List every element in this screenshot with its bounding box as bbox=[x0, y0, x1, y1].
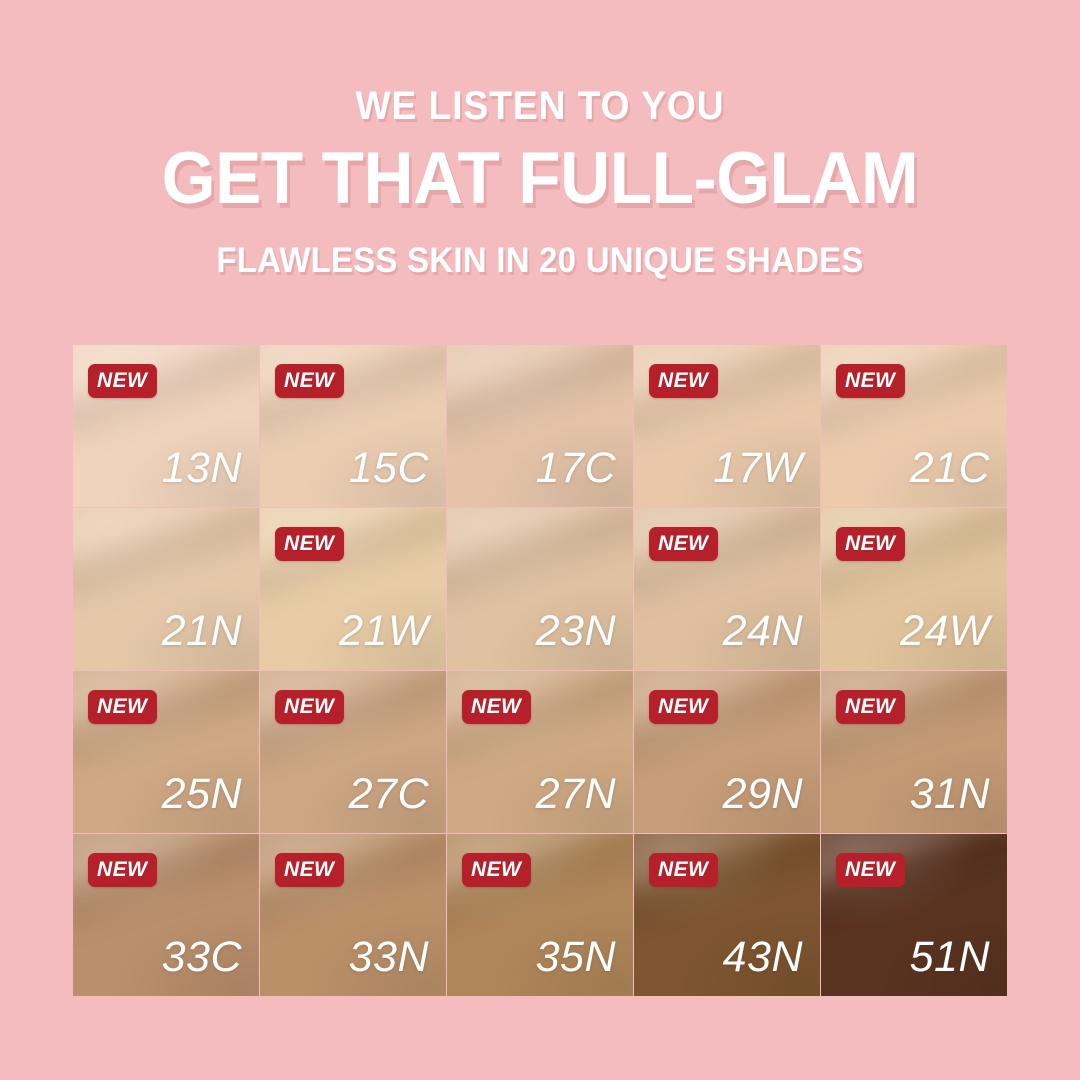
new-badge: NEW bbox=[836, 364, 905, 398]
shade-code-label: 35N bbox=[536, 936, 616, 979]
shade-code-label: 43N bbox=[723, 936, 803, 979]
new-badge: NEW bbox=[836, 527, 905, 561]
new-badge: NEW bbox=[88, 853, 157, 887]
new-badge: NEW bbox=[462, 853, 531, 887]
shade-code-label: 21W bbox=[339, 610, 429, 653]
new-badge: NEW bbox=[275, 853, 344, 887]
shade-swatch[interactable]: NEW29N bbox=[634, 671, 820, 833]
new-badge: NEW bbox=[649, 690, 718, 724]
shade-range-poster: WE LISTEN TO YOU GET THAT FULL-GLAM FLAW… bbox=[0, 0, 1080, 1080]
shade-swatch-grid: NEW13NNEW15CNEW17CNEW17WNEW21CNEW21NNEW2… bbox=[73, 345, 1007, 996]
shade-swatch[interactable]: NEW43N bbox=[634, 834, 820, 996]
new-badge: NEW bbox=[275, 364, 344, 398]
shade-code-label: 27C bbox=[349, 773, 429, 816]
shade-code-label: 24N bbox=[723, 610, 803, 653]
shade-swatch[interactable]: NEW25N bbox=[73, 671, 259, 833]
shade-code-label: 21N bbox=[162, 610, 242, 653]
header: WE LISTEN TO YOU GET THAT FULL-GLAM FLAW… bbox=[0, 0, 1080, 278]
shade-code-label: 27N bbox=[536, 773, 616, 816]
shade-code-label: 33N bbox=[349, 936, 429, 979]
new-badge: NEW bbox=[836, 690, 905, 724]
shade-swatch[interactable]: NEW21N bbox=[73, 508, 259, 670]
shade-code-label: 17W bbox=[713, 447, 803, 490]
shade-code-label: 17C bbox=[536, 447, 616, 490]
shade-swatch[interactable]: NEW35N bbox=[447, 834, 633, 996]
new-badge: NEW bbox=[649, 853, 718, 887]
new-badge: NEW bbox=[649, 364, 718, 398]
new-badge: NEW bbox=[88, 690, 157, 724]
shade-swatch[interactable]: NEW24W bbox=[821, 508, 1007, 670]
shade-code-label: 15C bbox=[349, 447, 429, 490]
shade-code-label: 25N bbox=[162, 773, 242, 816]
shade-swatch[interactable]: NEW17C bbox=[447, 345, 633, 507]
shade-swatch[interactable]: NEW33N bbox=[260, 834, 446, 996]
page-title: GET THAT FULL-GLAM bbox=[27, 140, 1053, 217]
shade-code-label: 51N bbox=[910, 936, 990, 979]
shade-code-label: 13N bbox=[162, 447, 242, 490]
new-badge: NEW bbox=[462, 690, 531, 724]
shade-swatch[interactable]: NEW17W bbox=[634, 345, 820, 507]
new-badge: NEW bbox=[88, 364, 157, 398]
shade-swatch[interactable]: NEW15C bbox=[260, 345, 446, 507]
shade-code-label: 31N bbox=[910, 773, 990, 816]
shade-swatch[interactable]: NEW23N bbox=[447, 508, 633, 670]
new-badge: NEW bbox=[275, 690, 344, 724]
shade-code-label: 21C bbox=[910, 447, 990, 490]
shade-swatch[interactable]: NEW21C bbox=[821, 345, 1007, 507]
shade-swatch[interactable]: NEW27N bbox=[447, 671, 633, 833]
shade-swatch[interactable]: NEW51N bbox=[821, 834, 1007, 996]
shade-swatch[interactable]: NEW24N bbox=[634, 508, 820, 670]
shade-swatch[interactable]: NEW21W bbox=[260, 508, 446, 670]
shade-code-label: 33C bbox=[162, 936, 242, 979]
new-badge: NEW bbox=[275, 527, 344, 561]
eyebrow-text: WE LISTEN TO YOU bbox=[38, 86, 1042, 126]
new-badge: NEW bbox=[649, 527, 718, 561]
shade-swatch[interactable]: NEW13N bbox=[73, 345, 259, 507]
shade-code-label: 24W bbox=[900, 610, 990, 653]
shade-code-label: 29N bbox=[723, 773, 803, 816]
shade-swatch[interactable]: NEW31N bbox=[821, 671, 1007, 833]
shade-code-label: 23N bbox=[536, 610, 616, 653]
shade-swatch[interactable]: NEW27C bbox=[260, 671, 446, 833]
shade-swatch[interactable]: NEW33C bbox=[73, 834, 259, 996]
new-badge: NEW bbox=[836, 853, 905, 887]
subtitle-text: FLAWLESS SKIN IN 20 UNIQUE SHADES bbox=[32, 243, 1047, 278]
